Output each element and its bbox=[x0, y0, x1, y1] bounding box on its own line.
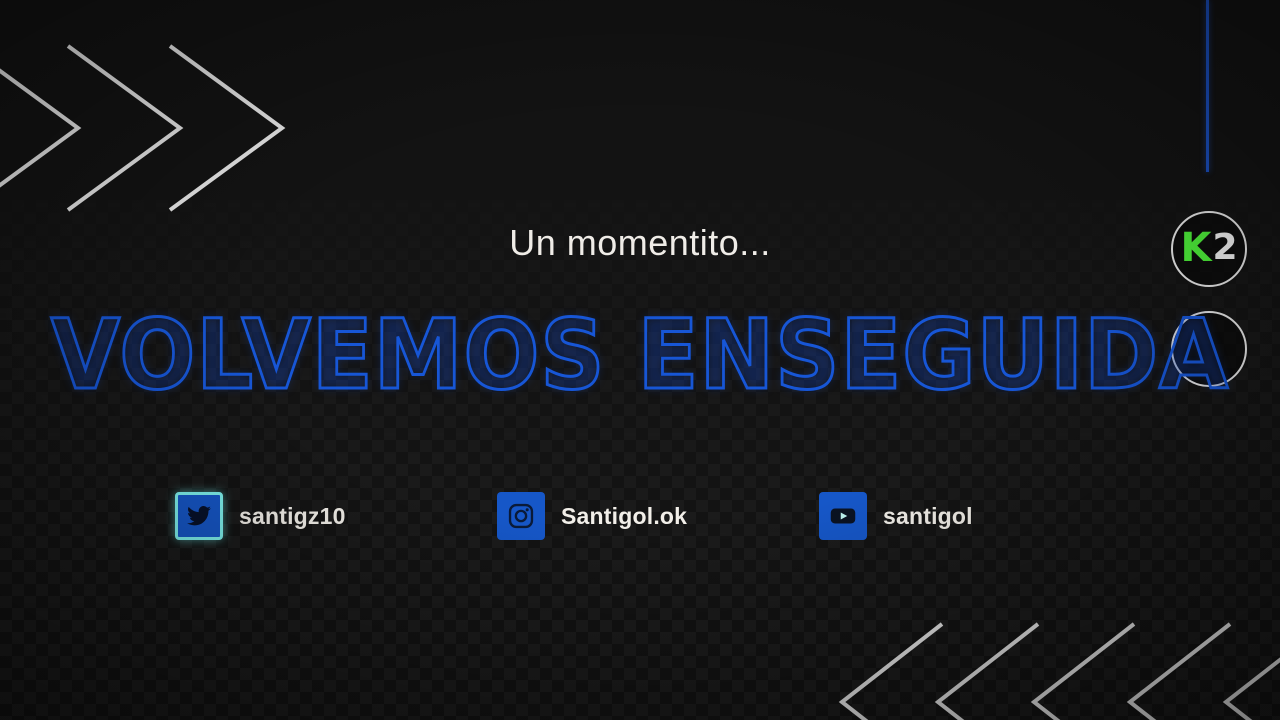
social-handle-instagram: Santigol.ok bbox=[561, 503, 687, 530]
social-link-twitter[interactable]: santigz10 bbox=[175, 488, 346, 544]
vertical-rule-icon bbox=[1206, 0, 1209, 172]
page-title: VOLVEMOS ENSEGUIDA bbox=[45, 300, 1235, 410]
social-links-row: santigz10 Santigol.ok santigol bbox=[0, 488, 1280, 544]
chevron-right-triple-icon bbox=[0, 38, 360, 218]
intermission-screen: K 2 Un momentito... VOLVEMOS ENSEGUIDA s… bbox=[0, 0, 1280, 720]
twitter-bird-icon[interactable] bbox=[175, 492, 223, 540]
social-handle-youtube: santigol bbox=[883, 503, 973, 530]
social-link-instagram[interactable]: Santigol.ok bbox=[497, 488, 687, 544]
instagram-camera-icon[interactable] bbox=[497, 492, 545, 540]
subtitle-text: Un momentito... bbox=[0, 222, 1280, 264]
youtube-play-icon[interactable] bbox=[819, 492, 867, 540]
social-link-youtube[interactable]: santigol bbox=[819, 488, 973, 544]
social-handle-twitter: santigz10 bbox=[239, 503, 346, 530]
chevron-left-quad-icon bbox=[828, 618, 1280, 720]
